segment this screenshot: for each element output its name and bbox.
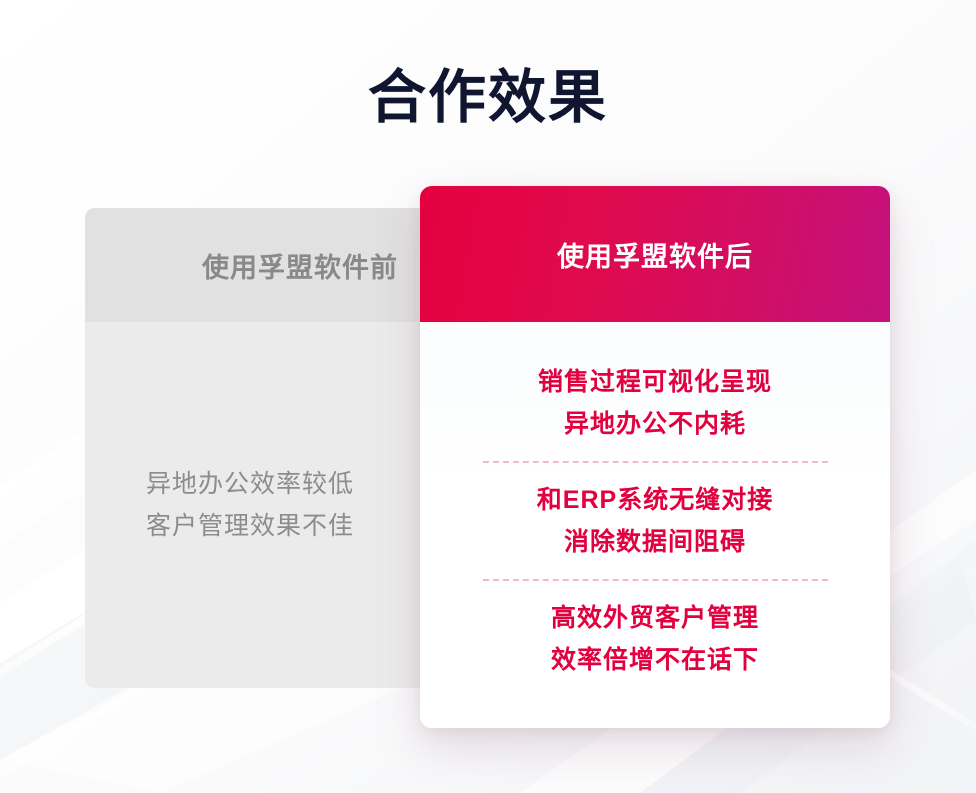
before-pain-points: 异地办公效率较低 客户管理效果不佳 xyxy=(146,463,354,547)
after-card-body: 销售过程可视化呈现 异地办公不内耗 和ERP系统无缝对接 消除数据间阻碍 高效外… xyxy=(420,322,890,728)
benefit-item: 销售过程可视化呈现 异地办公不内耗 xyxy=(538,345,772,461)
benefit-1-line-1: 销售过程可视化呈现 xyxy=(538,361,772,403)
after-card-header: 使用孚盟软件后 xyxy=(420,186,890,322)
benefit-3-line-1: 高效外贸客户管理 xyxy=(551,597,759,639)
benefit-item: 和ERP系统无缝对接 消除数据间阻碍 xyxy=(537,463,773,579)
benefit-item: 高效外贸客户管理 效率倍增不在话下 xyxy=(551,581,759,697)
after-card-title: 使用孚盟软件后 xyxy=(557,235,753,274)
benefit-3-line-2: 效率倍增不在话下 xyxy=(551,639,759,681)
before-card-title: 使用孚盟软件前 xyxy=(202,246,398,285)
after-card: 使用孚盟软件后 销售过程可视化呈现 异地办公不内耗 和ERP系统无缝对接 消除数… xyxy=(420,186,890,728)
before-pain-point-line-2: 客户管理效果不佳 xyxy=(146,505,354,547)
benefit-2-line-1: 和ERP系统无缝对接 xyxy=(537,479,773,521)
benefit-1-line-2: 异地办公不内耗 xyxy=(538,403,772,445)
page-title: 合作效果 xyxy=(0,62,976,134)
before-pain-point-line-1: 异地办公效率较低 xyxy=(146,463,354,505)
benefit-2-line-2: 消除数据间阻碍 xyxy=(537,521,773,563)
